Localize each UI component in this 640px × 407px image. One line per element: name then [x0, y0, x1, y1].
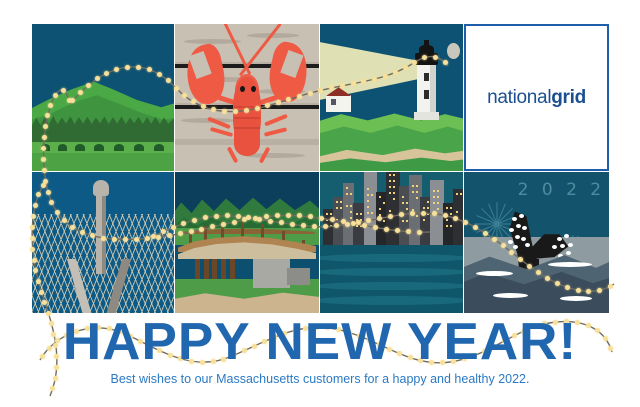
bush-icon	[58, 144, 68, 151]
lighthouse-finial	[424, 40, 428, 46]
light-bulb	[406, 229, 411, 234]
light-bulb	[608, 284, 613, 289]
building-window	[393, 180, 395, 182]
building-window	[446, 219, 448, 221]
building-window	[350, 211, 352, 213]
light-bulb	[536, 270, 541, 275]
light-bulb	[101, 236, 106, 241]
light-bulb	[395, 228, 400, 233]
bridge-abutment-shadow	[287, 268, 310, 285]
light-bulb	[55, 210, 60, 215]
light-bulb	[388, 214, 393, 219]
building-window	[356, 213, 358, 215]
building-window	[379, 208, 381, 210]
lighthouse-lantern	[419, 45, 435, 55]
building-window	[416, 191, 418, 193]
building-window	[336, 201, 338, 203]
building-window	[389, 192, 391, 194]
building-window	[427, 201, 429, 203]
building-window	[350, 217, 352, 219]
light-bulb	[86, 83, 91, 88]
light-bulb	[443, 60, 448, 65]
light-bulb	[308, 91, 313, 96]
light-bulb	[147, 67, 152, 72]
logo-box: nationalgrid	[464, 24, 609, 171]
light-bulb	[576, 288, 581, 293]
light-bulb	[232, 220, 237, 225]
light-bulb	[125, 65, 130, 70]
building-window	[389, 186, 391, 188]
building-window	[336, 207, 338, 209]
light-bulb	[492, 237, 497, 242]
bush-icon	[134, 144, 144, 151]
mountain-water	[32, 153, 174, 171]
lobster-segment	[234, 117, 260, 119]
building-window	[346, 187, 348, 189]
lighthouse-tower-shadow	[430, 62, 436, 118]
brand-wordmark: nationalgrid	[487, 87, 586, 109]
building-window	[416, 215, 418, 217]
building-window	[456, 211, 458, 213]
building-window	[367, 188, 369, 190]
light-bulb	[182, 93, 187, 98]
bridge-abutment	[253, 259, 290, 287]
light-bulb	[410, 211, 415, 216]
light-bulb	[345, 222, 350, 227]
water-wave	[320, 296, 463, 304]
building-window	[450, 213, 452, 215]
year-label: 2 0 2 2	[518, 180, 605, 200]
lighthouse-window	[424, 73, 429, 82]
building-window	[427, 207, 429, 209]
panel-wooden-footbridge	[175, 172, 319, 313]
light-bulb	[501, 243, 506, 248]
building-window	[393, 186, 395, 188]
light-bulb	[151, 234, 156, 239]
page-subtitle: Best wishes to our Massachusetts custome…	[0, 372, 640, 386]
lobster-segment	[234, 127, 260, 129]
building-window	[367, 206, 369, 208]
light-bulb	[50, 386, 55, 391]
page-title: HAPPY NEW YEAR!	[0, 316, 640, 368]
whale-spot	[508, 240, 513, 244]
lobster-tail	[234, 131, 260, 156]
light-bulb	[443, 213, 448, 218]
whale-spot	[525, 243, 530, 247]
building-window	[393, 192, 395, 194]
whale-spot	[568, 243, 573, 247]
light-bulb	[174, 86, 179, 91]
light-bulb	[318, 88, 323, 93]
building-window	[393, 174, 395, 176]
light-bulb	[201, 104, 206, 109]
light-bulb	[244, 108, 249, 113]
water-wave	[320, 254, 463, 262]
brand-name-bold: grid	[551, 87, 586, 108]
building-window	[367, 200, 369, 202]
light-bulb	[319, 216, 324, 221]
sea-foam	[476, 271, 514, 276]
building-window	[346, 193, 348, 195]
building-window	[446, 225, 448, 227]
light-bulb	[62, 218, 67, 223]
light-bulb	[53, 93, 58, 98]
light-bulb	[134, 237, 139, 242]
light-bulb	[356, 220, 361, 225]
light-bulb	[268, 219, 273, 224]
light-bulb	[46, 190, 51, 195]
building-window	[340, 201, 342, 203]
whale-spot	[512, 217, 517, 221]
panel-brand-logo: nationalgrid	[464, 24, 609, 171]
light-bulb	[433, 55, 438, 60]
light-bulb	[483, 231, 488, 236]
building-window	[402, 196, 404, 198]
building-window	[330, 213, 332, 215]
light-bulb	[225, 213, 230, 218]
light-bulb	[30, 225, 35, 230]
light-bulb	[32, 258, 37, 263]
building-window	[427, 213, 429, 215]
building-window	[326, 213, 328, 215]
light-bulb	[42, 168, 47, 173]
whale-spot	[557, 237, 562, 241]
light-bulb	[290, 222, 295, 227]
building-window	[383, 202, 385, 204]
light-bulb	[157, 72, 162, 77]
light-bulb	[167, 233, 172, 238]
bush-icon	[75, 144, 85, 151]
light-bulb	[112, 237, 117, 242]
light-bulb	[233, 109, 238, 114]
building-window	[371, 212, 373, 214]
building-window	[406, 202, 408, 204]
light-bulb	[286, 213, 291, 218]
building-window	[402, 220, 404, 222]
light-bulb	[383, 74, 388, 79]
building-window	[406, 208, 408, 210]
building-window	[346, 205, 348, 207]
building-window	[416, 197, 418, 199]
sea-foam	[560, 296, 592, 301]
building-window	[437, 190, 439, 192]
bridge-tower-top	[93, 180, 109, 196]
light-bulb	[80, 230, 85, 235]
building-window	[340, 207, 342, 209]
building-window	[446, 207, 448, 209]
light-bulb	[393, 70, 398, 75]
building-window	[433, 196, 435, 198]
light-bulb	[384, 227, 389, 232]
water-wave	[320, 268, 463, 276]
light-bulb	[527, 264, 532, 269]
light-bulb	[221, 222, 226, 227]
building-window	[433, 202, 435, 204]
building-window	[450, 225, 452, 227]
bush-icon	[94, 144, 104, 151]
building-window	[367, 194, 369, 196]
building-window	[423, 207, 425, 209]
building-window	[356, 225, 358, 227]
new-year-greeting-card: nationalgrid	[0, 0, 640, 407]
building-window	[437, 208, 439, 210]
panel-city-skyline	[320, 172, 463, 313]
light-bulb	[372, 77, 377, 82]
building-window	[350, 205, 352, 207]
light-bulb	[166, 78, 171, 83]
light-bulb	[136, 65, 141, 70]
light-bulb	[42, 135, 47, 140]
building-window	[336, 219, 338, 221]
light-bulb	[41, 183, 46, 188]
bush-icon	[154, 144, 164, 151]
light-bulb	[36, 279, 41, 284]
building-window	[383, 220, 385, 222]
building-window	[379, 196, 381, 198]
building-window	[389, 180, 391, 182]
building-window	[350, 193, 352, 195]
bush-icon	[114, 144, 124, 151]
building-window	[437, 196, 439, 198]
building-window	[456, 193, 458, 195]
house-window	[331, 99, 335, 105]
light-bulb	[432, 211, 437, 216]
building-window	[402, 202, 404, 204]
panel-cable-stay-bridge	[32, 172, 174, 313]
light-bulb	[178, 231, 183, 236]
light-bulb	[30, 247, 35, 252]
light-bulb	[518, 257, 523, 262]
panel-lighthouse	[320, 24, 463, 171]
light-bulb	[351, 81, 356, 86]
light-bulb	[203, 215, 208, 220]
brand-name-light: national	[487, 87, 551, 108]
lighthouse-base	[414, 112, 438, 119]
building-window	[433, 190, 435, 192]
building-window	[423, 219, 425, 221]
light-bulb	[421, 211, 426, 216]
building-window	[389, 210, 391, 212]
light-bulb	[545, 276, 550, 281]
lighthouse-window	[424, 90, 429, 99]
building-window	[460, 193, 462, 195]
building-window	[389, 174, 391, 176]
building-window	[371, 194, 373, 196]
building-window	[412, 185, 414, 187]
bridge-tower-shadow	[102, 186, 106, 273]
whale-spot	[521, 237, 526, 241]
light-bulb	[565, 285, 570, 290]
light-bulb	[340, 83, 345, 88]
light-bulb	[104, 71, 109, 76]
building-window	[412, 191, 414, 193]
light-bulb	[214, 214, 219, 219]
light-bulb	[297, 94, 302, 99]
building-window	[393, 198, 395, 200]
light-bulb	[417, 230, 422, 235]
light-bulb	[555, 281, 560, 286]
building-window	[360, 213, 362, 215]
building-window	[367, 212, 369, 214]
building-window	[406, 220, 408, 222]
building-window	[416, 185, 418, 187]
light-bulb	[192, 218, 197, 223]
light-bulb	[39, 290, 44, 295]
light-bulb	[46, 311, 51, 316]
lobster-eye	[240, 86, 245, 92]
whale-spot	[522, 226, 527, 230]
light-bulb	[312, 224, 317, 229]
light-bulb	[189, 229, 194, 234]
rail-post	[241, 220, 244, 237]
building-window	[450, 207, 452, 209]
light-bulb	[145, 236, 150, 241]
light-bulb	[222, 109, 227, 114]
light-bulb	[31, 214, 36, 219]
whale-spot	[560, 244, 565, 248]
light-bulb	[255, 106, 260, 111]
light-bulb	[236, 214, 241, 219]
keepers-house	[326, 95, 352, 113]
building-window	[330, 225, 332, 227]
light-bulb	[156, 235, 161, 240]
light-bulb	[33, 203, 38, 208]
light-bulb	[30, 236, 35, 241]
building-window	[437, 202, 439, 204]
building-window	[326, 219, 328, 221]
whale-spot	[566, 251, 571, 255]
